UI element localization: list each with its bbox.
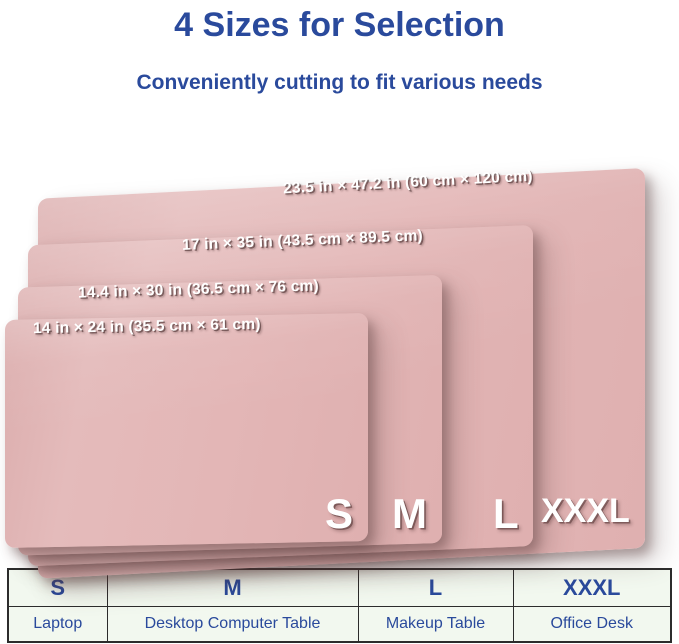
size-usage-table: S M L XXXL Laptop Desktop Computer Table… <box>7 568 672 643</box>
table-cell-use-xxxl: Office Desk <box>513 607 671 643</box>
size-letter-m: M <box>392 490 427 538</box>
size-letter-l: L <box>493 490 519 538</box>
table-cell-use-s: Laptop <box>8 607 107 643</box>
size-letter-xxxl: XXXL <box>541 492 630 531</box>
table-cell-code-m: M <box>107 569 358 607</box>
mat-size-illustration: 23.5 in × 47.2 in (60 cm × 120 cm) 17 in… <box>0 0 679 570</box>
table-cell-use-l: Makeup Table <box>358 607 513 643</box>
table-cell-code-l: L <box>358 569 513 607</box>
table-cell-use-m: Desktop Computer Table <box>107 607 358 643</box>
mat-panel-s <box>5 313 368 548</box>
table-cell-code-xxxl: XXXL <box>513 569 671 607</box>
size-letter-s: S <box>325 490 353 538</box>
table-row-usages: Laptop Desktop Computer Table Makeup Tab… <box>8 607 671 643</box>
